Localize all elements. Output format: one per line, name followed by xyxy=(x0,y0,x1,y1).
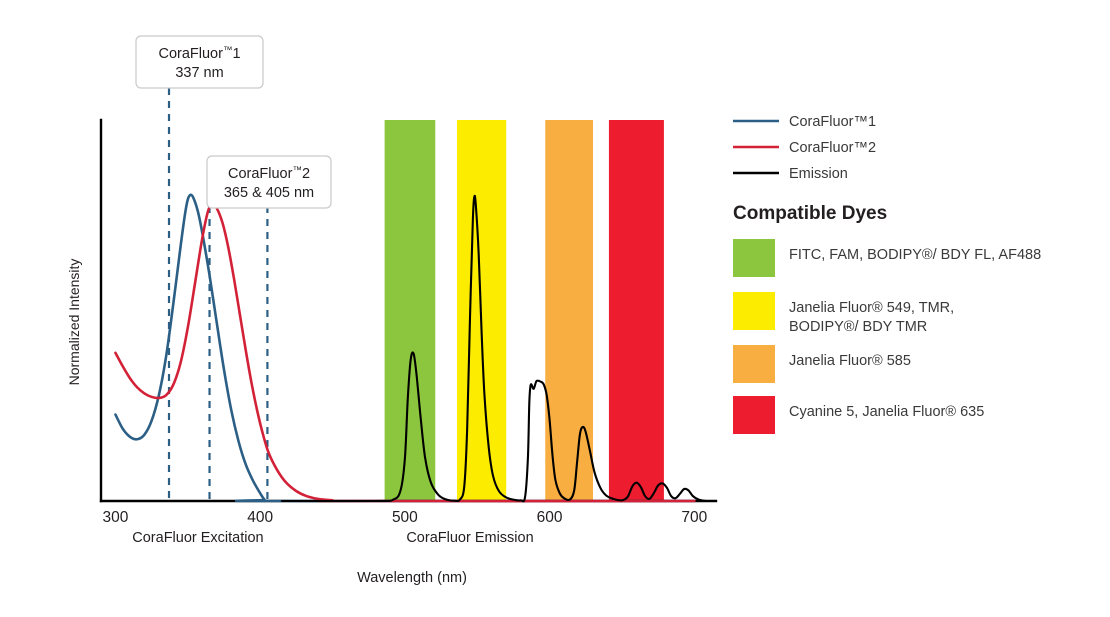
dye-entry-label-2-0: Janelia Fluor® 585 xyxy=(789,353,911,369)
dye-entry-label-0-0: FITC, FAM, BODIPY®/ BDY FL, AF488 xyxy=(789,247,1041,263)
dye-entry-label-1-0: Janelia Fluor® 549, TMR, xyxy=(789,300,954,316)
legend-entry-label-1: CoraFluor™2 xyxy=(789,140,876,156)
dye-entry-label-1-1: BODIPY®/ BDY TMR xyxy=(789,319,927,335)
dye-entry-1[interactable]: Janelia Fluor® 549, TMR,BODIPY®/ BDY TMR xyxy=(733,292,954,335)
legend-layer: CoraFluor™1CoraFluor™2EmissionCompatible… xyxy=(733,114,1041,434)
legend-entry-label-0: CoraFluor™1 xyxy=(789,114,876,130)
compatible-dyes-heading: Compatible Dyes xyxy=(733,203,887,224)
callouts-layer: CoraFluor™1337 nmCoraFluor™2365 & 405 nm xyxy=(136,36,331,208)
y-axis-title: Normalized Intensity xyxy=(66,259,82,386)
dye-entry-3[interactable]: Cyanine 5, Janelia Fluor® 635 xyxy=(733,396,984,434)
green-band xyxy=(385,120,436,501)
color-swatch-icon xyxy=(733,396,775,434)
spectra-chart: 300400500600700CoraFluor ExcitationCoraF… xyxy=(0,0,1110,612)
color-swatch-icon xyxy=(733,239,775,277)
x-tick-label-500: 500 xyxy=(392,509,418,526)
chart-canvas: 300400500600700CoraFluor ExcitationCoraF… xyxy=(0,0,1110,612)
legend-entry-series-2[interactable]: Emission xyxy=(733,166,848,182)
legend-entry-label-2: Emission xyxy=(789,166,848,182)
x-tick-label-600: 600 xyxy=(537,509,563,526)
dye-entry-label-3-0: Cyanine 5, Janelia Fluor® 635 xyxy=(789,404,984,420)
dye-entry-2[interactable]: Janelia Fluor® 585 xyxy=(733,345,911,383)
callout-corafluor-1: CoraFluor™1337 nm xyxy=(136,36,263,88)
emission-bands-layer xyxy=(385,120,664,501)
x-region-label-1: CoraFluor Emission xyxy=(406,530,533,546)
x-region-label-0: CoraFluor Excitation xyxy=(132,530,263,546)
callout-corafluor-2-line2: 365 & 405 nm xyxy=(224,185,314,201)
legend-entry-series-0[interactable]: CoraFluor™1 xyxy=(733,114,876,130)
x-tick-label-400: 400 xyxy=(247,509,273,526)
color-swatch-icon xyxy=(733,345,775,383)
x-tick-label-300: 300 xyxy=(103,509,129,526)
callout-corafluor-2: CoraFluor™2365 & 405 nm xyxy=(207,156,331,208)
color-swatch-icon xyxy=(733,292,775,330)
red-band xyxy=(609,120,664,501)
dye-entry-0[interactable]: FITC, FAM, BODIPY®/ BDY FL, AF488 xyxy=(733,239,1041,277)
guide-lines-layer xyxy=(169,88,267,501)
x-tick-label-700: 700 xyxy=(681,509,707,526)
legend-entry-series-1[interactable]: CoraFluor™2 xyxy=(733,140,876,156)
x-axis-title: Wavelength (nm) xyxy=(357,570,467,586)
callout-corafluor-1-line2: 337 nm xyxy=(175,65,223,81)
